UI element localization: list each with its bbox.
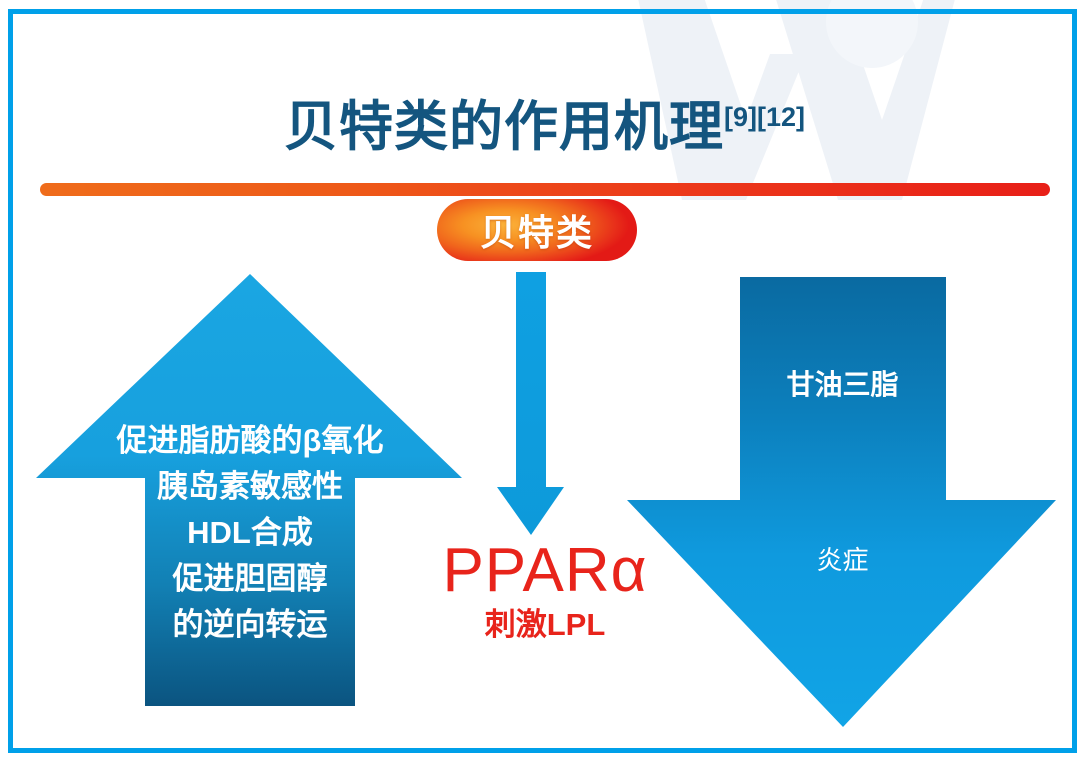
ppar-alpha-label: PPARα — [400, 540, 690, 602]
diagram-arrows — [0, 0, 1089, 766]
slide-canvas: 贝特类的作用机理[9][12] — [0, 0, 1089, 766]
left-up-arrow — [36, 274, 462, 706]
right-down-arrow — [627, 277, 1056, 727]
fibrates-badge-label: 贝特类 — [480, 204, 594, 256]
ppar-alpha-block: PPARα 刺激LPL — [400, 540, 690, 643]
lpl-stimulation-label: 刺激LPL — [400, 606, 690, 643]
fibrates-badge[interactable]: 贝特类 — [437, 199, 637, 261]
center-down-arrow — [497, 272, 564, 535]
